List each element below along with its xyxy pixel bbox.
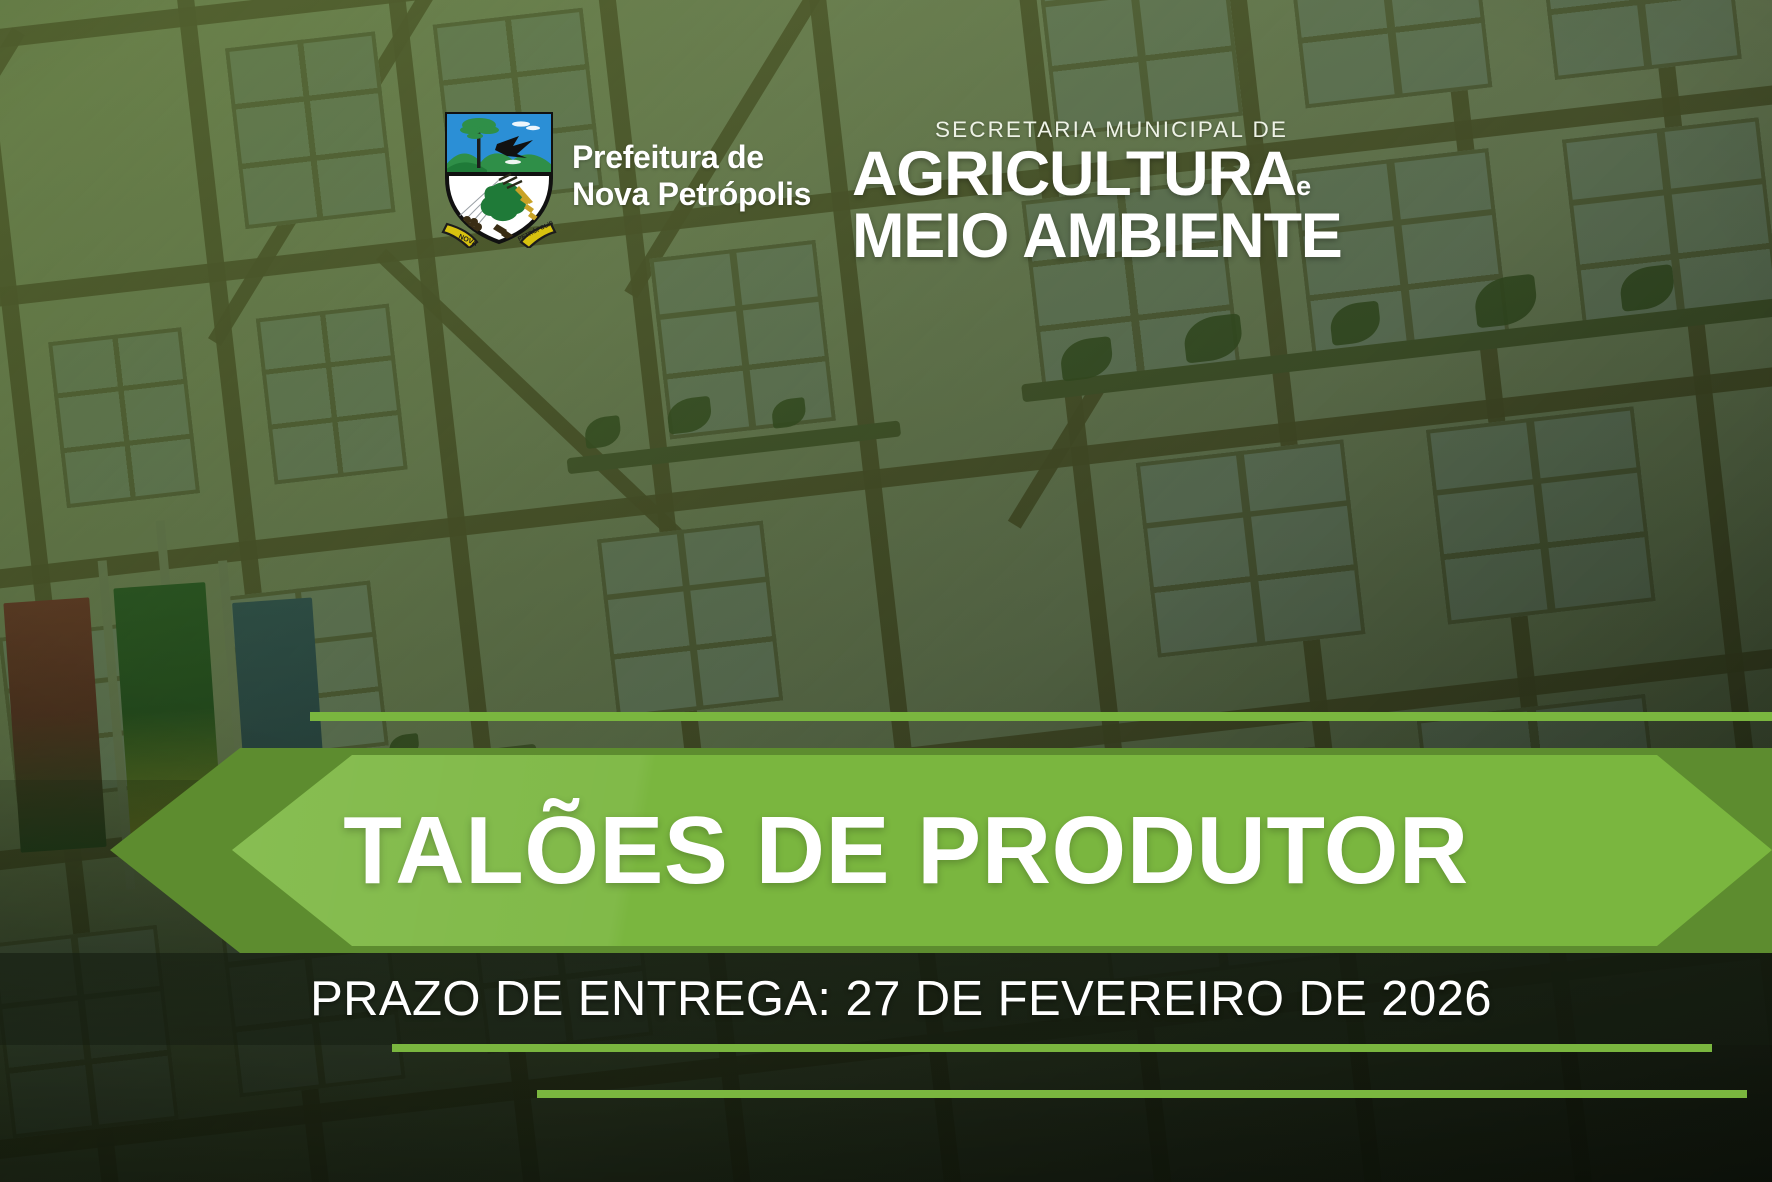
nova-petropolis-coat-of-arms: NOVA PETRÓPOLIS	[441, 108, 557, 248]
secretaria-name: AGRICULTURAe MEIO AMBIENTE	[852, 143, 1342, 268]
secretaria-line-2: MEIO AMBIENTE	[852, 205, 1342, 267]
poster-header: NOVA PETRÓPOLIS Prefeitura de Nova Petró…	[0, 0, 1772, 300]
bottom-divider-rule-2	[537, 1090, 1747, 1098]
secretaria-line-1-suffix: e	[1296, 171, 1311, 201]
prefeitura-line-2: Nova Petrópolis	[572, 176, 811, 213]
poster-canvas: NOVA PETRÓPOLIS Prefeitura de Nova Petró…	[0, 0, 1772, 1182]
secretaria-line-1: AGRICULTURAe	[852, 143, 1342, 205]
top-divider-rule	[310, 712, 1772, 721]
prefeitura-wordmark: Prefeitura de Nova Petrópolis	[572, 139, 811, 213]
poster-title: TALÕES DE PRODUTOR	[0, 748, 1772, 953]
deadline-text: PRAZO DE ENTREGA: 27 DE FEVEREIRO DE 202…	[0, 953, 1772, 1045]
secretaria-line-1-main: AGRICULTURA	[852, 139, 1296, 209]
bottom-divider-rule-1	[392, 1044, 1712, 1052]
prefeitura-line-1: Prefeitura de	[572, 139, 811, 176]
